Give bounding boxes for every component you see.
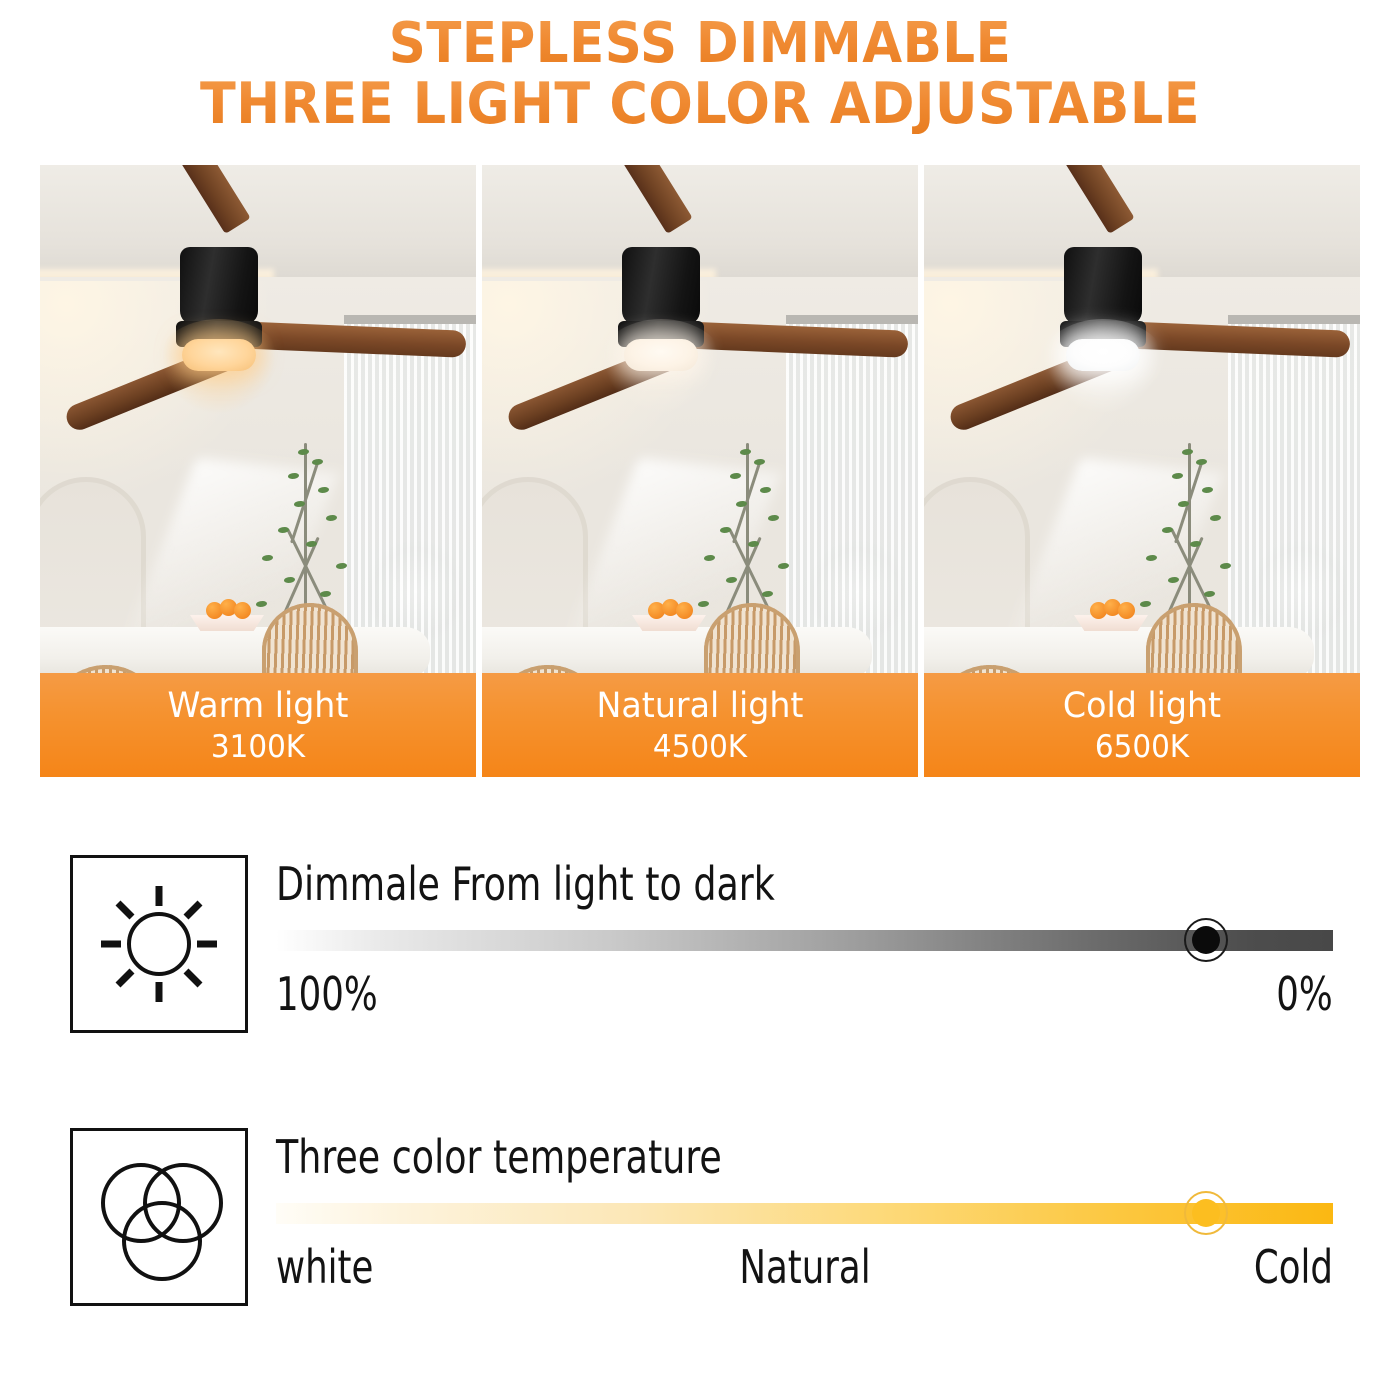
fruit-bowl bbox=[632, 603, 706, 631]
dimming-scale-right: 0% bbox=[1277, 967, 1333, 1021]
caption-cold-light: Cold light 6500K bbox=[924, 673, 1360, 777]
panel-natural-light: Natural light 4500K bbox=[482, 165, 918, 777]
title-line-1: STEPLESS DIMMABLE bbox=[56, 14, 1344, 74]
ceiling-fan bbox=[482, 189, 918, 429]
dimming-title: Dimmale From light to dark bbox=[276, 857, 1221, 911]
color-temperature-slider[interactable] bbox=[276, 1200, 1333, 1226]
sun-icon bbox=[70, 855, 248, 1033]
color-temperature-scale: white Natural Cold bbox=[276, 1240, 1333, 1296]
caption-name: Cold light bbox=[935, 684, 1349, 728]
fan-led-light bbox=[624, 339, 698, 373]
title-line-2: THREE LIGHT COLOR ADJUSTABLE bbox=[56, 74, 1344, 134]
fruit-bowl bbox=[190, 603, 264, 631]
caption-kelvin: 6500K bbox=[935, 728, 1349, 766]
dining-chair bbox=[704, 603, 800, 681]
dimming-scale-left: 100% bbox=[276, 967, 378, 1021]
dimming-slider-track[interactable] bbox=[276, 930, 1333, 951]
three-circles-icon bbox=[70, 1128, 248, 1306]
panel-warm-light: Warm light 3100K bbox=[40, 165, 476, 777]
caption-name: Warm light bbox=[51, 684, 465, 728]
feature-color-temperature: Three color temperature white Natural Co… bbox=[70, 1128, 1350, 1306]
color-temperature-scale-middle: Natural bbox=[739, 1240, 870, 1294]
fan-led-light bbox=[1066, 339, 1140, 373]
ceiling-fan bbox=[924, 189, 1360, 429]
color-temperature-slider-handle[interactable] bbox=[1184, 1191, 1228, 1235]
fan-led-light bbox=[182, 339, 256, 373]
caption-kelvin: 4500K bbox=[493, 728, 907, 766]
color-temperature-scale-right: Cold bbox=[1254, 1240, 1333, 1294]
page-title: STEPLESS DIMMABLE THREE LIGHT COLOR ADJU… bbox=[0, 14, 1400, 134]
led-face-cold bbox=[1066, 339, 1140, 371]
dining-chair bbox=[262, 603, 358, 681]
feature-dimming: Dimmale From light to dark 100% 0% bbox=[70, 855, 1350, 1033]
color-temperature-body: Three color temperature white Natural Co… bbox=[276, 1128, 1350, 1296]
caption-natural-light: Natural light 4500K bbox=[482, 673, 918, 777]
dimming-scale: 100% 0% bbox=[276, 967, 1333, 1023]
caption-warm-light: Warm light 3100K bbox=[40, 673, 476, 777]
dimming-slider-handle[interactable] bbox=[1184, 918, 1228, 962]
led-face-warm bbox=[182, 339, 256, 371]
dining-chair bbox=[1146, 603, 1242, 681]
light-color-panels: Warm light 3100K bbox=[40, 165, 1360, 777]
led-face-natural bbox=[624, 339, 698, 371]
color-temperature-scale-left: white bbox=[276, 1240, 373, 1294]
color-temperature-slider-track[interactable] bbox=[276, 1203, 1333, 1224]
fan-motor-housing bbox=[1064, 247, 1142, 325]
fan-motor-housing bbox=[622, 247, 700, 325]
color-temperature-title: Three color temperature bbox=[276, 1130, 1221, 1184]
fruit-bowl bbox=[1074, 603, 1148, 631]
fan-motor-housing bbox=[180, 247, 258, 325]
dimming-slider[interactable] bbox=[276, 927, 1333, 953]
caption-kelvin: 3100K bbox=[51, 728, 465, 766]
caption-name: Natural light bbox=[493, 684, 907, 728]
ceiling-fan bbox=[40, 189, 476, 429]
panel-cold-light: Cold light 6500K bbox=[924, 165, 1360, 777]
dimming-body: Dimmale From light to dark 100% 0% bbox=[276, 855, 1350, 1023]
